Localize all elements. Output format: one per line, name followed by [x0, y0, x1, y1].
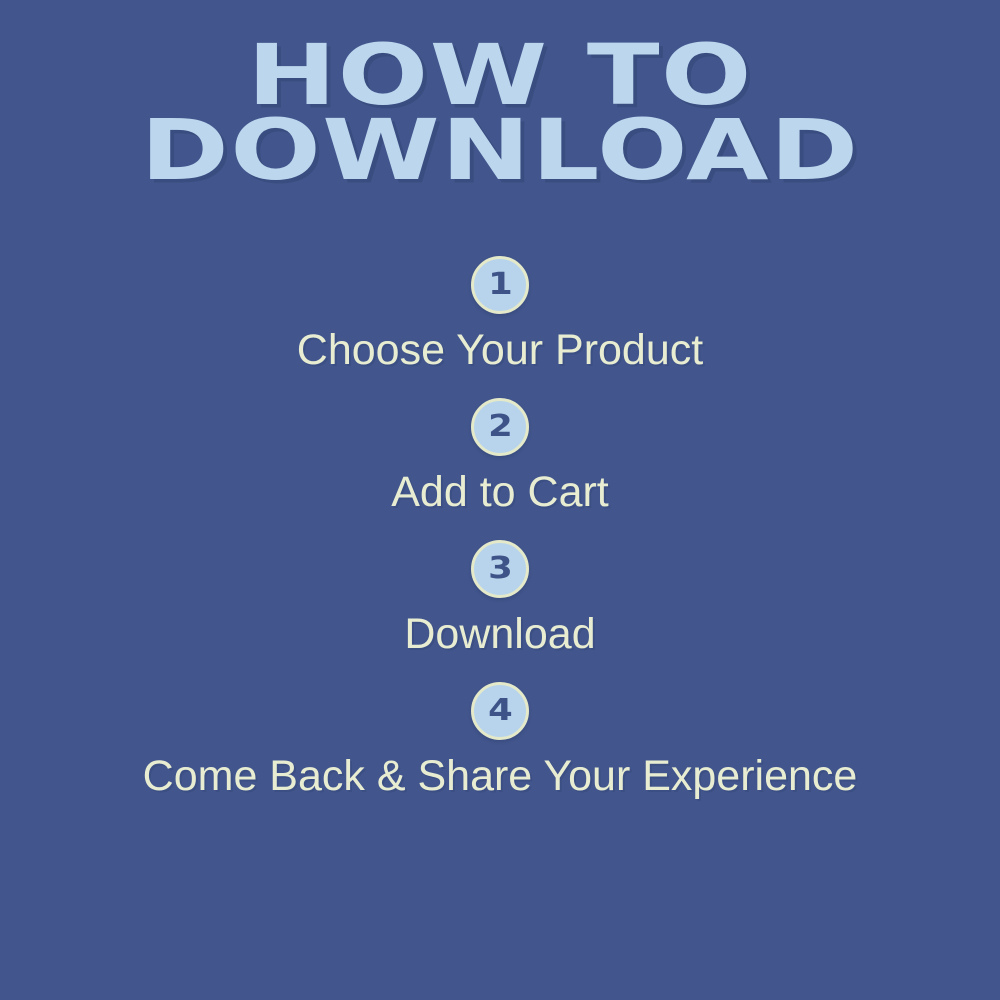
title-line-1: HOW TO — [0, 42, 1000, 112]
step-number-badge-2: 2 — [471, 398, 529, 456]
step-label-4: Come Back & Share Your Experience — [0, 754, 1000, 799]
step-number-badge-3: 3 — [471, 540, 529, 598]
step-number-badge-1: 1 — [471, 256, 529, 314]
step-label-2: Add to Cart — [0, 470, 1000, 515]
step-label-3: Download — [0, 612, 1000, 657]
how-to-download-poster: HOW TO DOWNLOAD 1 Choose Your Product 2 … — [0, 0, 1000, 1000]
step-number-3: 3 — [488, 554, 513, 584]
step-item-1: 1 Choose Your Product — [0, 256, 1000, 373]
page-title: HOW TO DOWNLOAD — [0, 42, 1000, 186]
step-number-2: 2 — [488, 412, 513, 442]
step-number-badge-4: 4 — [471, 682, 529, 740]
step-number-1: 1 — [488, 270, 513, 300]
step-item-2: 2 Add to Cart — [0, 398, 1000, 515]
step-number-4: 4 — [488, 696, 513, 726]
title-line-2: DOWNLOAD — [0, 117, 1000, 187]
steps-list: 1 Choose Your Product 2 Add to Cart 3 Do… — [0, 256, 1000, 825]
step-label-1: Choose Your Product — [0, 328, 1000, 373]
step-item-3: 3 Download — [0, 540, 1000, 657]
step-item-4: 4 Come Back & Share Your Experience — [0, 682, 1000, 799]
